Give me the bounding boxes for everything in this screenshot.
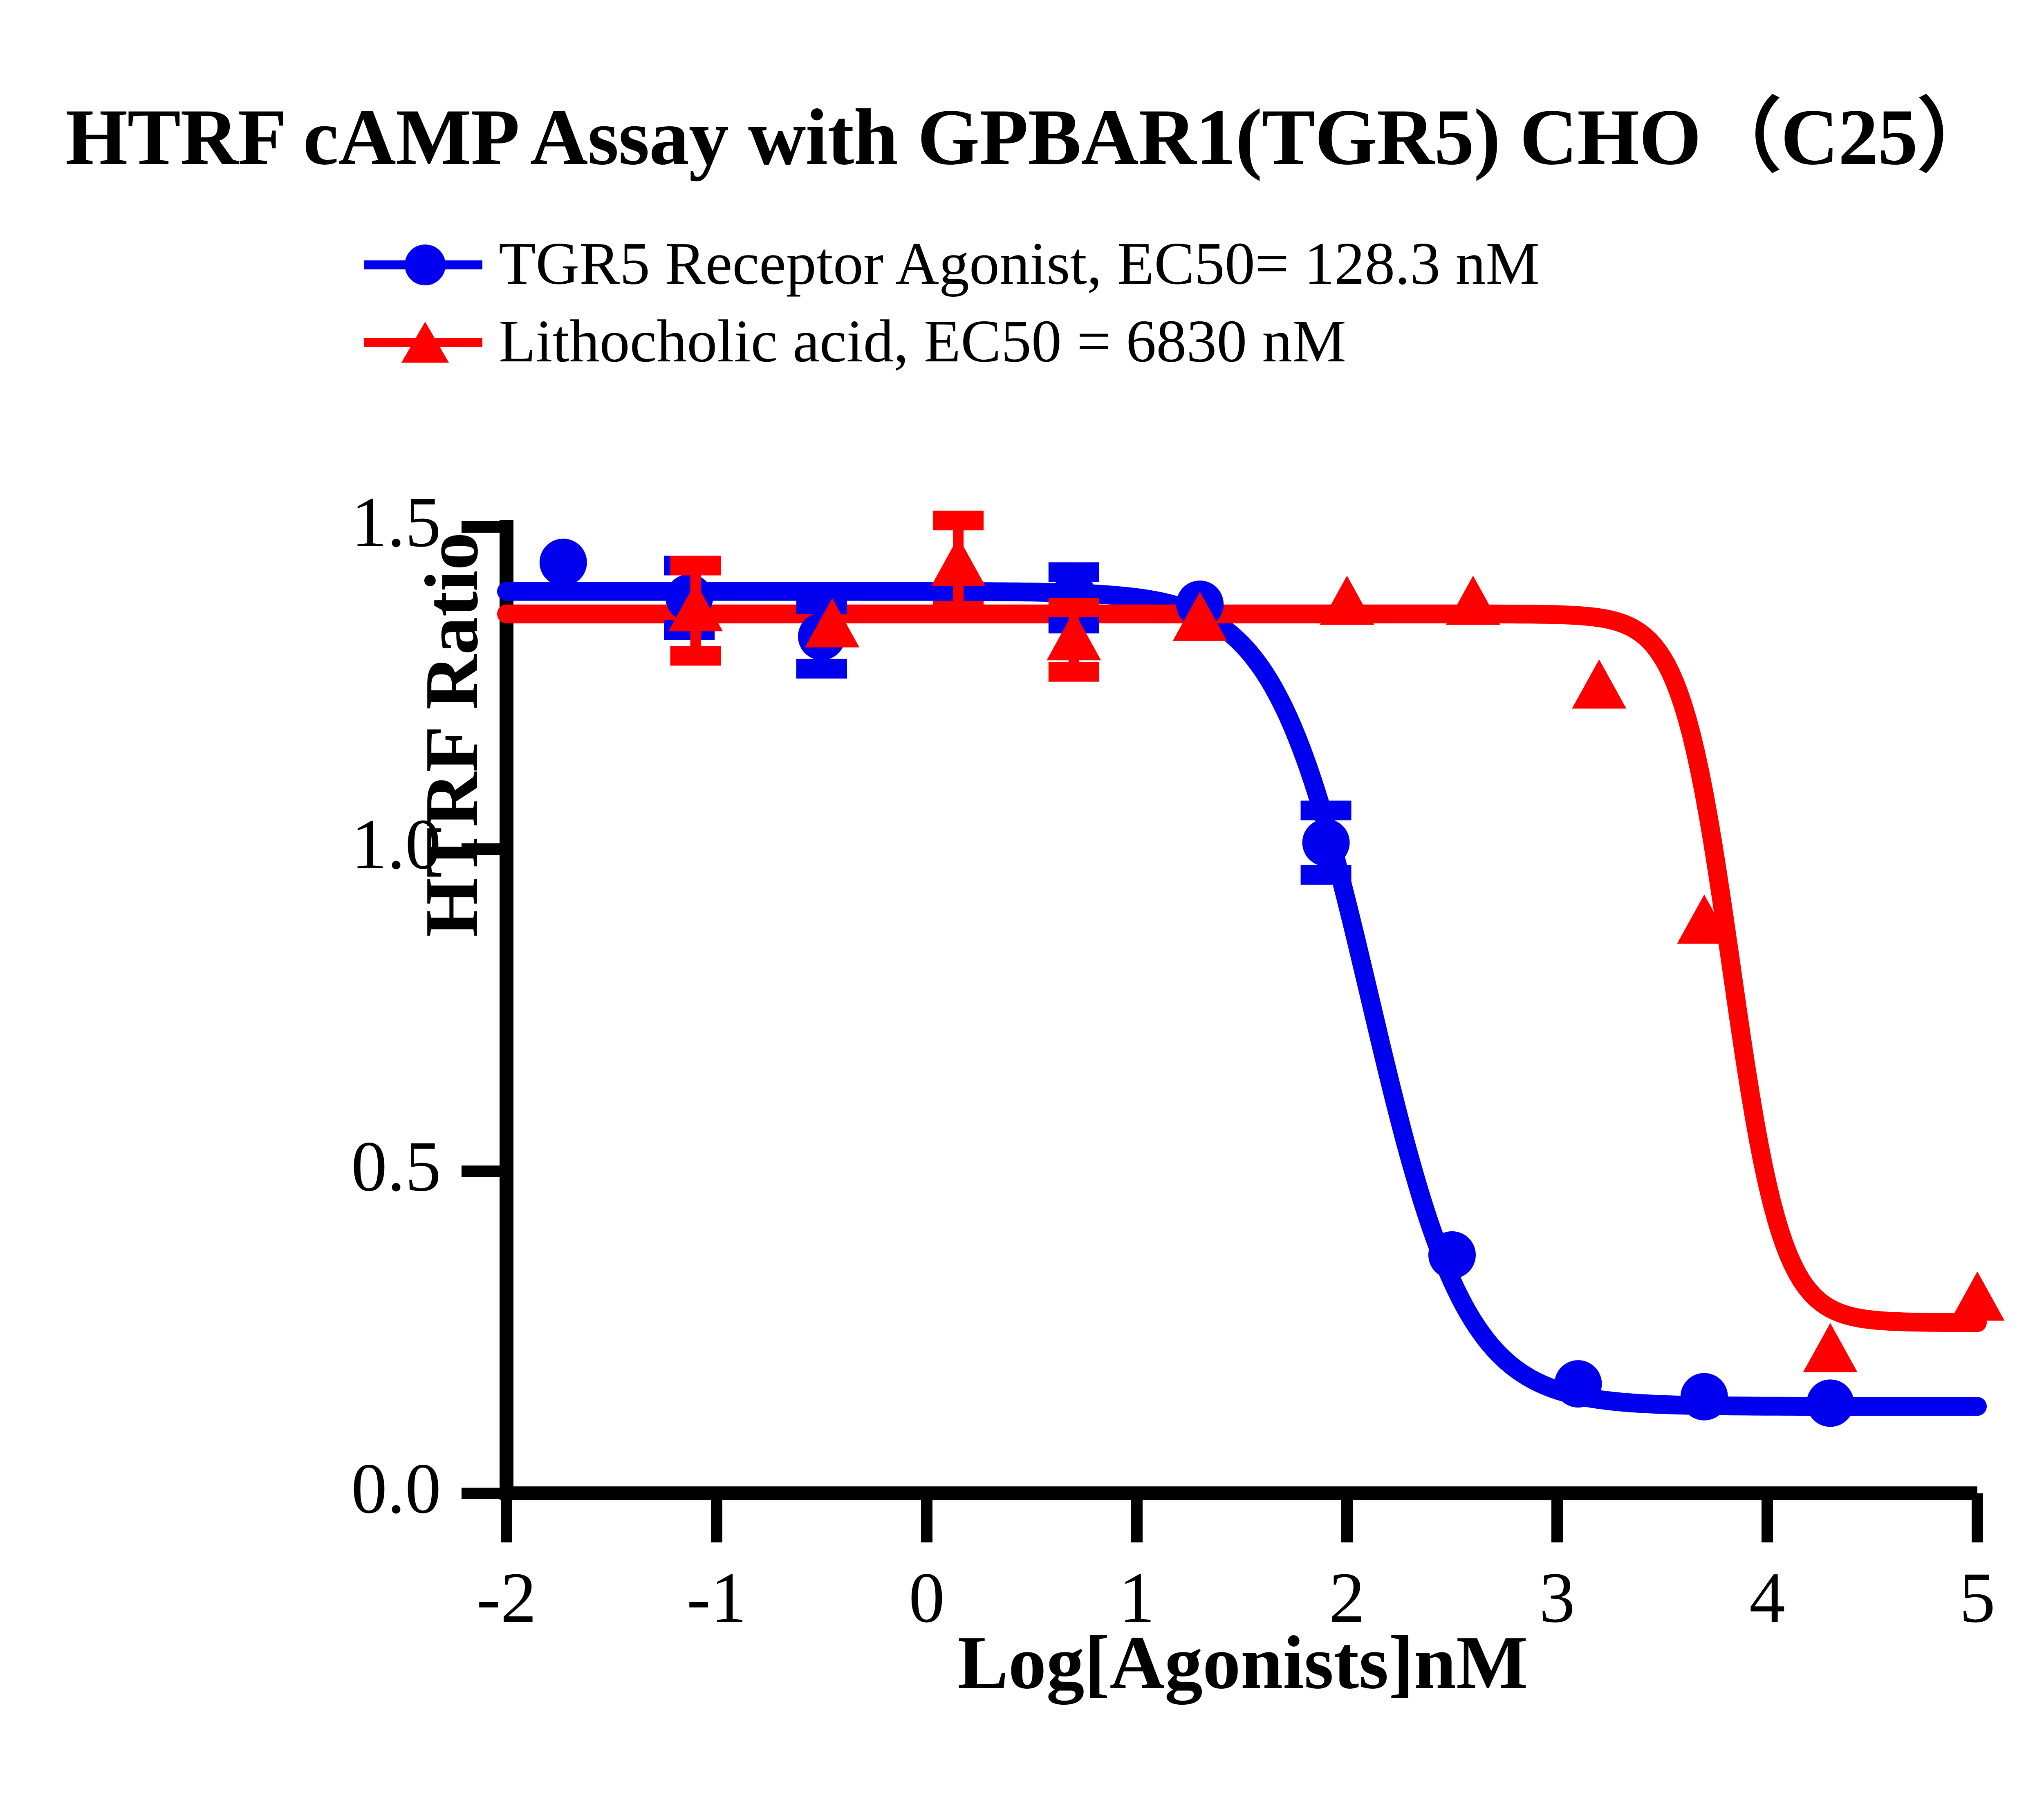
- data-point-marker-triangle: [1572, 659, 1626, 708]
- x-tick-label: -1: [655, 1557, 778, 1639]
- x-tick-label: 1: [1076, 1557, 1198, 1639]
- series-curve-2: [507, 614, 1977, 1323]
- y-tick-label: 0.0: [245, 1448, 441, 1530]
- data-point-marker-circle: [1806, 1379, 1854, 1427]
- data-point-marker-triangle: [1950, 1271, 2005, 1320]
- data-point-marker-circle: [1428, 1231, 1476, 1279]
- plot-svg: [0, 0, 2044, 1811]
- data-point-marker-circle: [1302, 819, 1350, 866]
- y-tick-label: 0.5: [245, 1125, 441, 1208]
- x-tick-label: 3: [1496, 1557, 1618, 1639]
- plot-area: HTRF Ratio Log[Agonists]nM 0.00.51.01.5 …: [0, 0, 2044, 1811]
- x-tick-label: -2: [445, 1557, 568, 1639]
- series-curve-1: [507, 592, 1977, 1407]
- data-point-marker-triangle: [931, 537, 986, 586]
- figure-canvas: HTRF cAMP Assay with GPBAR1(TGR5) CHO（C2…: [0, 0, 2044, 1811]
- x-tick-label: 4: [1706, 1557, 1829, 1639]
- data-point-marker-circle: [1554, 1360, 1602, 1408]
- data-point-marker-circle: [540, 539, 587, 586]
- data-point-marker-circle: [1681, 1373, 1728, 1421]
- y-tick-label: 1.0: [245, 803, 441, 886]
- data-point-marker-triangle: [1803, 1323, 1858, 1372]
- y-tick-label: 1.5: [245, 481, 441, 564]
- x-tick-label: 2: [1286, 1557, 1408, 1639]
- x-tick-label: 5: [1916, 1557, 2039, 1639]
- y-axis-title: HTRF Ratio: [408, 510, 495, 959]
- data-point-marker-triangle: [1446, 576, 1500, 625]
- data-point-marker-triangle: [1320, 576, 1374, 625]
- x-tick-label: 0: [865, 1557, 988, 1639]
